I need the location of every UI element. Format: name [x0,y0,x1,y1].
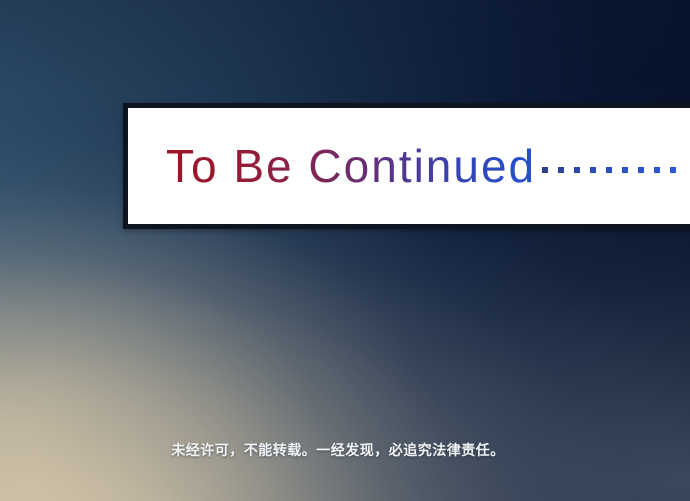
ellipsis-dot [638,167,644,173]
ellipsis-dots [542,167,686,173]
to-be-continued-panel: To Be Continued [123,103,690,229]
to-be-continued-row: To Be Continued [166,143,686,189]
ellipsis-dot [654,167,660,173]
ellipsis-dot [670,167,676,173]
ellipsis-dot [542,167,548,173]
background-top-shade [0,0,690,501]
copyright-notice: 未经许可，不能转载。一经发现，必追究法律责任。 [0,440,690,460]
panel-content: To Be Continued [128,108,690,224]
to-be-continued-label: To Be Continued [166,143,536,189]
comic-end-card: To Be Continued 未经许可，不能转载。一经发现，必追究法律责任。 [0,0,690,501]
ellipsis-dot [590,167,596,173]
ellipsis-dot [558,167,564,173]
ellipsis-dot [574,167,580,173]
ellipsis-dot [606,167,612,173]
ellipsis-dot [622,167,628,173]
